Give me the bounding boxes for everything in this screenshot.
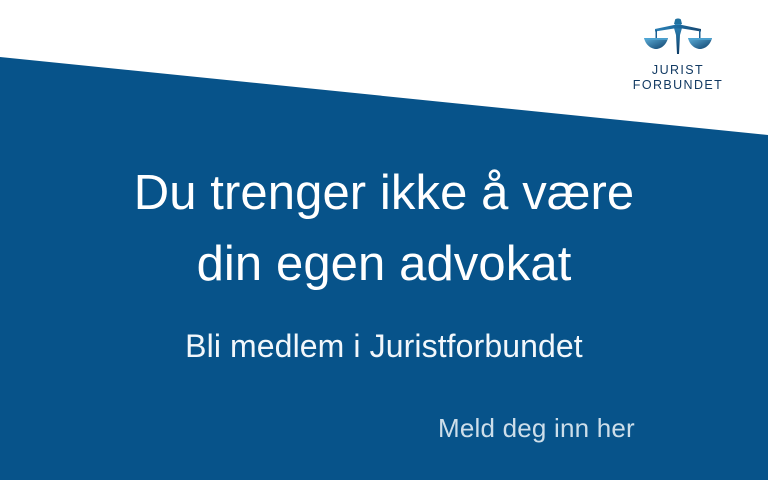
logo-name-line-1: JURIST bbox=[652, 63, 704, 77]
juristforbundet-logo[interactable]: JURIST FORBUNDET bbox=[632, 18, 724, 92]
logo-name-line-2: FORBUNDET bbox=[632, 78, 724, 93]
subheading: Bli medlem i Juristforbundet bbox=[0, 328, 768, 365]
headline-line-1: Du trenger ikke å være bbox=[0, 165, 768, 221]
advertisement-banner: JURIST FORBUNDET Du trenger ikke å være … bbox=[0, 0, 768, 480]
scales-of-justice-icon bbox=[640, 18, 716, 60]
logo-wordmark: JURIST FORBUNDET bbox=[632, 63, 724, 92]
headline-line-2: din egen advokat bbox=[0, 236, 768, 292]
cta-signup-link[interactable]: Meld deg inn her bbox=[438, 413, 635, 444]
